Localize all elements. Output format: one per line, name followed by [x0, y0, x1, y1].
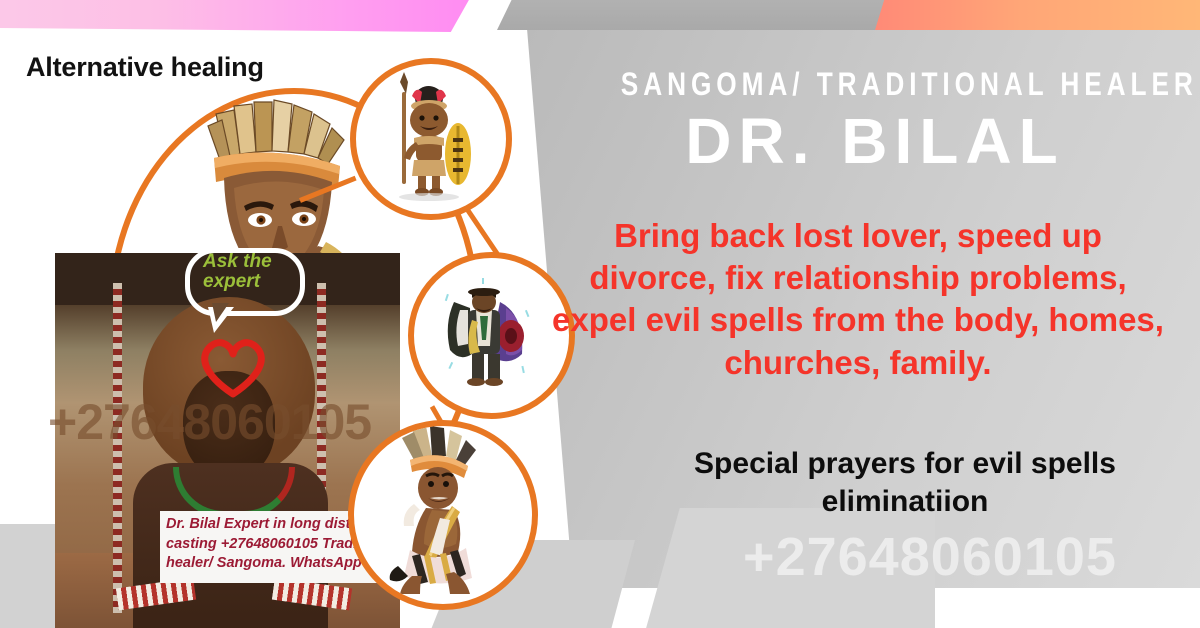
top-orange-gradient-bar	[875, 0, 1200, 30]
caption-line-3: healer/ Sangoma. WhatsApp m	[166, 554, 384, 574]
photo-phone-overlay: +27648060105	[48, 393, 371, 451]
page-title: Alternative healing	[26, 52, 264, 83]
crouching-warrior-icon	[354, 426, 522, 594]
prayers-text: Special prayers for evil spells eliminat…	[625, 445, 1185, 522]
zulu-warrior-icon	[356, 64, 496, 204]
badge-zulu-warrior	[350, 58, 512, 220]
speech-bubble-text: Ask the expert	[203, 252, 313, 292]
poster-canvas: Alternative healing	[0, 0, 1200, 628]
heart-icon	[197, 336, 269, 398]
phone-watermark: +27648060105	[660, 526, 1200, 588]
badge-crouching-warrior	[348, 420, 538, 610]
healer-name: DR. BILAL	[560, 104, 1190, 178]
top-pink-gradient-bar	[0, 0, 470, 32]
healer-cloak-icon	[414, 258, 559, 403]
kicker-text: SANGOMA/ TRADITIONAL HEALER	[621, 66, 1129, 103]
services-text: Bring back lost lover, speed up divorce,…	[548, 215, 1168, 384]
